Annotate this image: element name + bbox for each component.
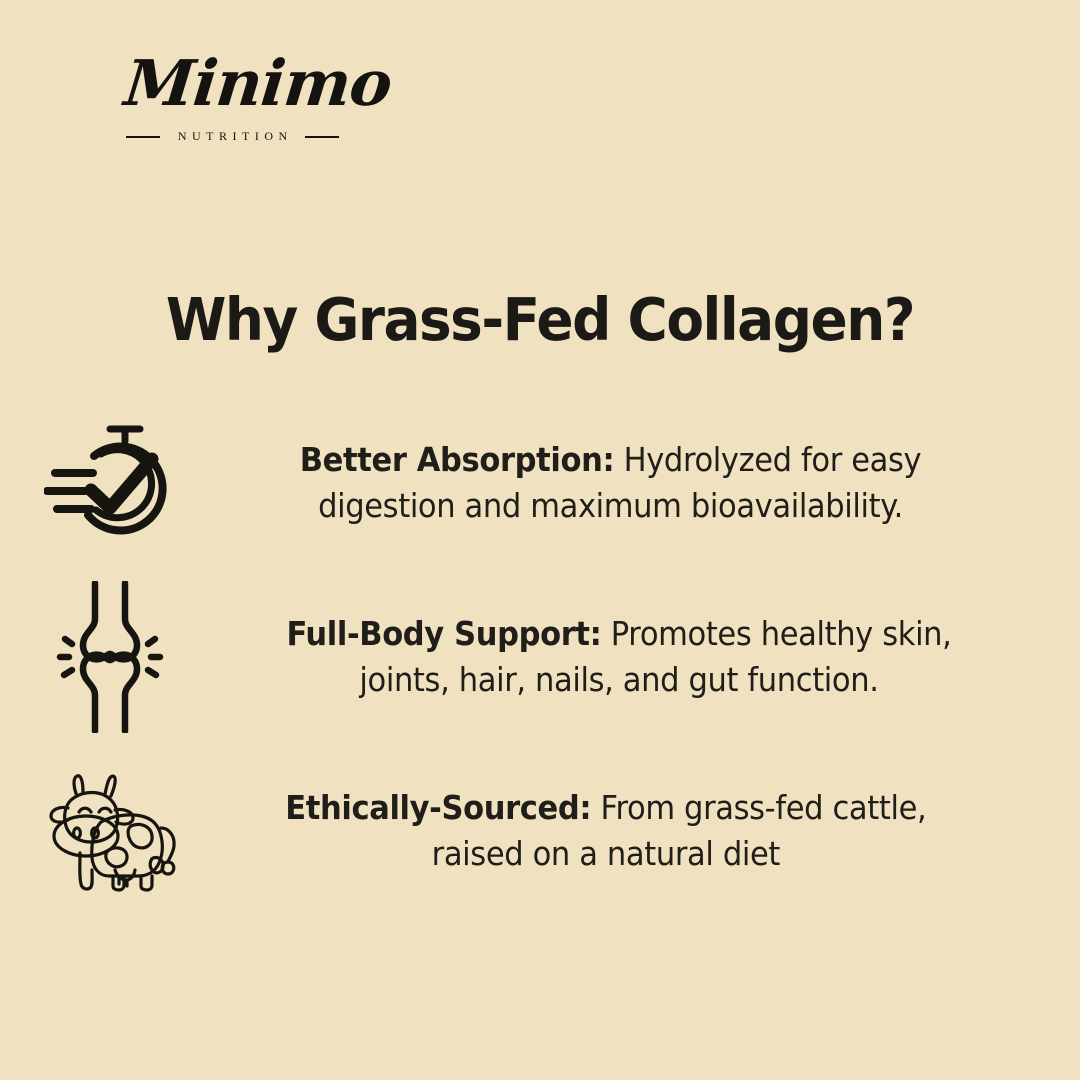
benefit-text: Ethically-Sourced: From grass-fed cattle… bbox=[246, 785, 1054, 877]
list-item: Better Absorption: Hydrolyzed for easy d… bbox=[0, 396, 1080, 570]
benefit-lead: Full-Body Support: bbox=[286, 615, 601, 653]
benefit-lead: Ethically-Sourced: bbox=[285, 789, 591, 827]
brand-logo: Minimo NUTRITION bbox=[125, 52, 340, 144]
promo-poster: Minimo NUTRITION Why Grass-Fed Collagen? bbox=[0, 0, 1080, 1080]
knee-joint-icon bbox=[0, 581, 220, 733]
page-title: Why Grass-Fed Collagen? bbox=[38, 287, 1042, 353]
brand-tagline-group: NUTRITION bbox=[125, 129, 340, 144]
list-item: Ethically-Sourced: From grass-fed cattle… bbox=[0, 744, 1080, 918]
logo-rule-left-icon bbox=[126, 136, 160, 138]
list-item: Full-Body Support: Promotes healthy skin… bbox=[0, 570, 1080, 744]
brand-name: Minimo bbox=[122, 52, 344, 115]
brand-tagline: NUTRITION bbox=[172, 129, 292, 144]
benefit-text: Better Absorption: Hydrolyzed for easy d… bbox=[246, 437, 1054, 529]
stopwatch-check-icon bbox=[0, 420, 220, 546]
benefits-list: Better Absorption: Hydrolyzed for easy d… bbox=[0, 396, 1080, 918]
benefit-lead: Better Absorption: bbox=[300, 441, 615, 479]
benefit-text: Full-Body Support: Promotes healthy skin… bbox=[246, 611, 1054, 703]
cow-icon bbox=[0, 770, 220, 892]
logo-rule-right-icon bbox=[305, 136, 339, 138]
